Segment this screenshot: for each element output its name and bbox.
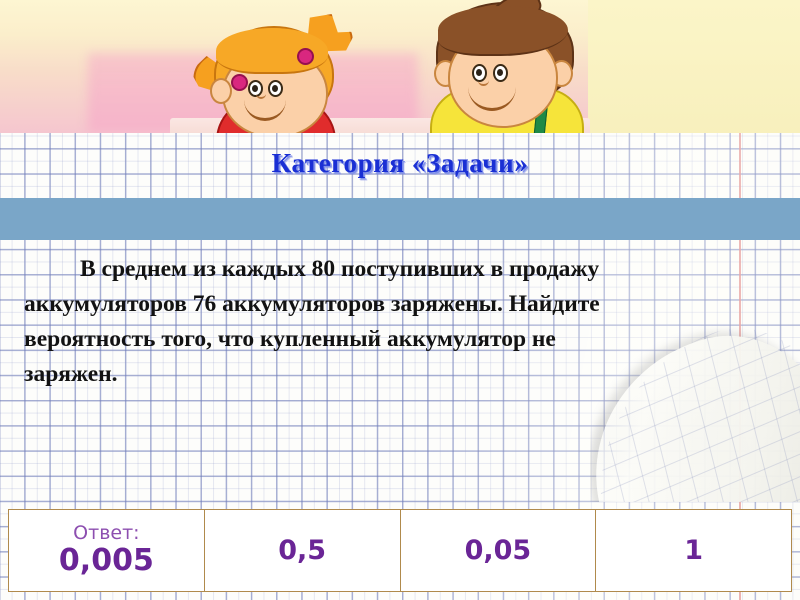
answer-option-4[interactable]: 1: [596, 510, 791, 591]
slide-root: Категория «Задачи» В среднем из каждых 8…: [0, 0, 800, 600]
answer-option-3[interactable]: 0,05: [401, 510, 597, 591]
answer-option-value: 0,005: [59, 544, 154, 577]
girl-ear: [210, 78, 232, 104]
header-banner: [0, 0, 800, 133]
boy-illustration: [424, 2, 584, 133]
answer-option-value: 0,05: [465, 536, 532, 566]
accent-divider-bar: [0, 198, 800, 240]
girl-left-hairband: [231, 74, 248, 91]
boy-right-eye: [493, 64, 508, 82]
girl-right-hairband: [297, 48, 314, 65]
problem-statement: В среднем из каждых 80 поступивших в про…: [24, 252, 624, 392]
answer-label: Ответ:: [73, 524, 139, 544]
answer-options-table: Ответ: 0,005 0,5 0,05 1: [8, 509, 792, 592]
banner-yellow-panel: [588, 0, 800, 133]
answer-option-value: 1: [684, 536, 703, 566]
girl-illustration: [196, 8, 346, 133]
page-title: Категория «Задачи»: [0, 148, 800, 179]
answer-option-value: 0,5: [278, 536, 326, 566]
answer-option-2[interactable]: 0,5: [205, 510, 401, 591]
girl-right-eye: [268, 80, 283, 97]
answer-option-1[interactable]: Ответ: 0,005: [9, 510, 205, 591]
